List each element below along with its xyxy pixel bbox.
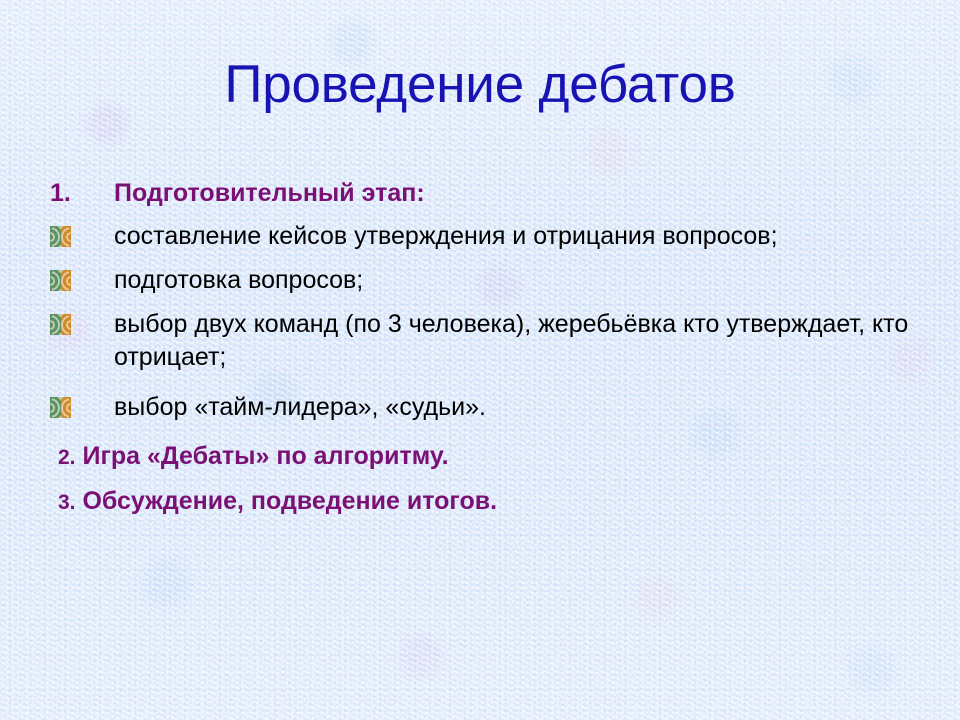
- bullet-cell: [50, 264, 114, 291]
- bullet-left-half: [50, 226, 61, 247]
- numbered-item-2-text: Игра «Дебаты» по алгоритму.: [82, 442, 448, 470]
- bullet-arcs-right: [61, 226, 72, 247]
- numbered-item-2-number: 2.: [58, 446, 76, 469]
- bullet-left-half: [50, 314, 61, 335]
- bullet-arcs-right: [61, 397, 72, 418]
- list-item: подготовка вопросов;: [50, 264, 936, 297]
- numbered-item-3-number: 3.: [58, 491, 76, 514]
- arc-square-bullet-icon: [50, 226, 71, 247]
- bullet-left-half: [50, 397, 61, 418]
- bullet-right-half: [61, 397, 72, 418]
- section-heading-1: 1. Подготовительный этап:: [50, 178, 936, 208]
- arc-square-bullet-icon: [50, 270, 71, 291]
- bullet-right-half: [61, 270, 72, 291]
- bullet-arcs-left: [50, 226, 61, 247]
- numbered-item-3-text: Обсуждение, подведение итогов.: [82, 487, 497, 515]
- slide-body: 1. Подготовительный этап: составление ке…: [50, 178, 936, 531]
- section-number-1: 1.: [50, 178, 114, 208]
- bullet-arcs-left: [50, 397, 61, 418]
- numbered-item-3: 3. Обсуждение, подведение итогов.: [58, 486, 936, 518]
- bullet-left-half: [50, 270, 61, 291]
- bullet-arcs-right: [61, 270, 72, 291]
- bullet-arcs-right: [61, 314, 72, 335]
- bullet-cell: [50, 220, 114, 247]
- list-item-text: составление кейсов утверждения и отрицан…: [114, 220, 924, 253]
- list-item: выбор двух команд (по 3 человека), жереб…: [50, 308, 936, 374]
- list-item: выбор «тайм-лидера», «судьи».: [50, 391, 936, 424]
- slide-content: Проведение дебатов 1. Подготовительный э…: [0, 0, 960, 720]
- arc-square-bullet-icon: [50, 314, 71, 335]
- bullet-arcs-left: [50, 270, 61, 291]
- bullet-arcs-left: [50, 314, 61, 335]
- list-item-text: подготовка вопросов;: [114, 264, 924, 297]
- list-item: составление кейсов утверждения и отрицан…: [50, 220, 936, 253]
- arc-square-bullet-icon: [50, 397, 71, 418]
- bullet-right-half: [61, 314, 72, 335]
- numbered-item-2: 2. Игра «Дебаты» по алгоритму.: [58, 441, 936, 473]
- bullet-cell: [50, 308, 114, 335]
- section-heading-text-1: Подготовительный этап:: [114, 178, 936, 208]
- list-item-text: выбор двух команд (по 3 человека), жереб…: [114, 308, 924, 374]
- bullet-right-half: [61, 226, 72, 247]
- slide-title: Проведение дебатов: [0, 54, 960, 116]
- bullet-cell: [50, 391, 114, 418]
- list-item-text: выбор «тайм-лидера», «судьи».: [114, 391, 924, 424]
